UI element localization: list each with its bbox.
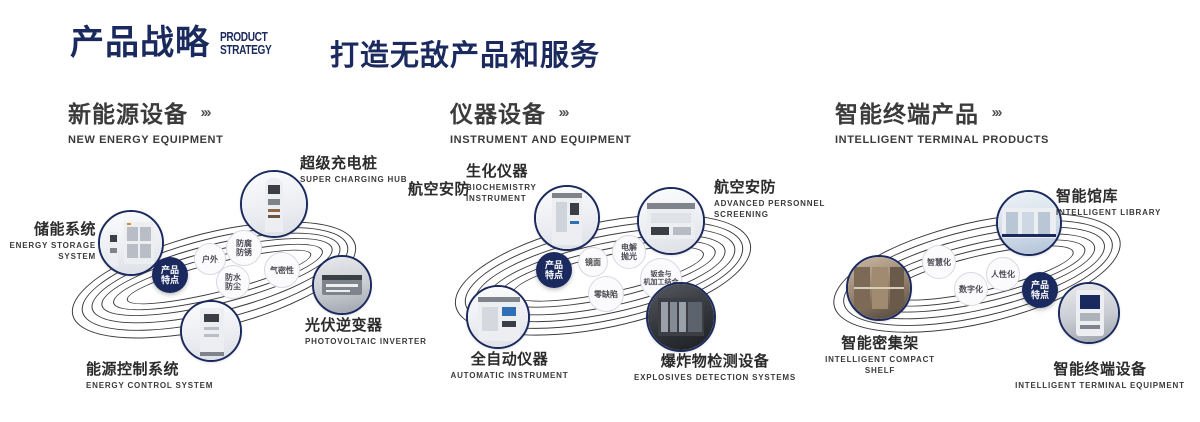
- chevron-right-icon: ›››: [558, 104, 567, 121]
- caption-intelligent-library: 智能馆库 INTELLIGENT LIBRARY: [1056, 185, 1161, 217]
- node-intelligent-library[interactable]: [996, 190, 1062, 256]
- caption-automatic-instrument: 全自动仪器 AUTOMATIC INSTRUMENT: [422, 348, 597, 380]
- core-bubble-group-2: 产品 特点: [536, 252, 572, 288]
- feature-label: 智慧化: [927, 258, 951, 267]
- product-strategy-infographic: 产品战略 PRODUCT STRATEGY 打造无敌产品和服务 新能源设备 ››…: [0, 0, 1200, 422]
- caption-en-line1: ADVANCED PERSONNEL: [714, 199, 825, 208]
- caption-en-line2: SYSTEM: [0, 252, 96, 261]
- pv-inverter-icon: [314, 257, 370, 313]
- explosives-detector-icon: [648, 284, 714, 350]
- control-cabinet-icon: [182, 302, 240, 360]
- caption-en-line2: INSTRUMENT: [466, 194, 537, 203]
- group-heading-en: INTELLIGENT TERMINAL PRODUCTS: [835, 134, 1049, 146]
- core-bubble-line2: 特点: [161, 275, 179, 285]
- charging-pile-icon: [242, 172, 306, 236]
- caption-en-line2: SCREENING: [714, 210, 825, 219]
- personnel-screening-icon: [639, 189, 703, 253]
- node-biochemistry-instrument[interactable]: [534, 185, 600, 251]
- automatic-instrument-icon: [468, 287, 528, 347]
- core-bubble-line1: 产品: [1031, 280, 1049, 290]
- group-heading-cn: 新能源设备: [68, 95, 188, 129]
- caption-energy-storage-system: 储能系统 ENERGY STORAGE SYSTEM: [0, 218, 96, 261]
- terminal-kiosk-icon: [1060, 284, 1118, 342]
- feature-label-line1: 防腐: [236, 239, 252, 248]
- caption-en-line1: ENERGY STORAGE: [0, 241, 96, 250]
- caption-en-line1: ENERGY CONTROL SYSTEM: [86, 381, 213, 390]
- caption-en-line2: SHELF: [800, 366, 960, 375]
- caption-en-line1: AUTOMATIC INSTRUMENT: [422, 371, 597, 380]
- feature-bubble-zero-defect: 零缺陷: [588, 276, 624, 312]
- intelligent-library-icon: [998, 192, 1060, 254]
- caption-cn: 爆炸物检测设备: [620, 350, 810, 371]
- caption-en-line1: BIOCHEMISTRY: [466, 183, 537, 192]
- group-heading-cn: 智能终端产品: [835, 95, 979, 129]
- node-personnel-screening[interactable]: [637, 187, 705, 255]
- biochemistry-instrument-icon: [536, 187, 598, 249]
- feature-bubble-airtightness: 气密性: [264, 252, 300, 288]
- feature-label-line1: 电解: [621, 243, 637, 252]
- core-bubble-line2: 特点: [1031, 290, 1049, 300]
- caption-en-line1: EXPLOSIVES DETECTION SYSTEMS: [620, 373, 810, 382]
- node-explosives-detector[interactable]: [646, 282, 716, 352]
- caption-photovoltaic-inverter: 光伏逆变器 PHOTOVOLTAIC INVERTER: [305, 314, 427, 346]
- caption-cn: 全自动仪器: [422, 348, 597, 369]
- caption-en-line1: INTELLIGENT COMPACT: [800, 355, 960, 364]
- node-energy-control-system[interactable]: [180, 300, 242, 362]
- caption-en-line1: PHOTOVOLTAIC INVERTER: [305, 337, 427, 346]
- feature-label-line1: 防水: [225, 273, 241, 282]
- group-heading-en: INSTRUMENT AND EQUIPMENT: [450, 134, 631, 146]
- node-energy-storage-system[interactable]: [98, 210, 164, 276]
- feature-bubble-waterproof: 防水 防尘: [216, 265, 250, 299]
- group-heading-instrument: 仪器设备 ››› INSTRUMENT AND EQUIPMENT: [450, 95, 631, 146]
- caption-en-line1: SUPER CHARGING HUB: [300, 175, 407, 184]
- caption-terminal-kiosk: 智能终端设备 INTELLIGENT TERMINAL EQUIPMENT: [1000, 358, 1200, 390]
- core-bubble-line2: 特点: [545, 270, 563, 280]
- feature-bubble-intelligent: 智慧化: [922, 245, 956, 279]
- group-heading-en: NEW ENERGY EQUIPMENT: [68, 134, 223, 146]
- feature-bubble-digitalized: 数字化: [954, 272, 988, 306]
- slogan: 打造无敌产品和服务: [330, 32, 600, 74]
- feature-label: 数字化: [959, 285, 983, 294]
- feature-label: 户外: [202, 255, 218, 264]
- feature-label-line2: 防锈: [236, 248, 252, 257]
- feature-label: 镜面: [585, 258, 601, 267]
- caption-biochemistry-instrument: 生化仪器 BIOCHEMISTRY INSTRUMENT: [466, 160, 537, 203]
- caption-cn: 航空安防: [408, 178, 470, 199]
- node-photovoltaic-inverter[interactable]: [312, 255, 372, 315]
- feature-label: 气密性: [270, 266, 294, 275]
- node-super-charging-hub[interactable]: [240, 170, 308, 238]
- core-bubble-line1: 产品: [545, 260, 563, 270]
- caption-compact-shelf: 智能密集架 INTELLIGENT COMPACT SHELF: [800, 332, 960, 375]
- caption-super-charging-hub: 超级充电桩 SUPER CHARGING HUB: [300, 152, 407, 184]
- caption-cn: 智能馆库: [1056, 185, 1161, 206]
- node-automatic-instrument[interactable]: [466, 285, 530, 349]
- caption-cn: 智能密集架: [800, 332, 960, 353]
- caption-cn: 生化仪器: [466, 160, 537, 181]
- page-title: 产品战略 PRODUCT STRATEGY: [70, 26, 286, 60]
- group-heading-intelligent-terminal: 智能终端产品 ››› INTELLIGENT TERMINAL PRODUCTS: [835, 95, 1049, 146]
- caption-cn: 超级充电桩: [300, 152, 407, 173]
- title-chinese: 产品战略: [70, 26, 210, 60]
- feature-label-line2: 抛光: [621, 252, 637, 261]
- feature-label: 人性化: [991, 270, 1015, 279]
- chevron-right-icon: ›››: [200, 104, 209, 121]
- caption-en-line1: INTELLIGENT TERMINAL EQUIPMENT: [1000, 381, 1200, 390]
- feature-bubble-humanized: 人性化: [986, 257, 1020, 291]
- compact-shelf-icon: [848, 257, 910, 319]
- caption-cn: 航空安防: [714, 176, 825, 197]
- group-heading-cn: 仪器设备: [450, 95, 546, 129]
- caption-cn: 光伏逆变器: [305, 314, 427, 335]
- core-bubble-line1: 产品: [161, 265, 179, 275]
- caption-cn: 智能终端设备: [1000, 358, 1200, 379]
- node-terminal-kiosk[interactable]: [1058, 282, 1120, 344]
- feature-label-line2: 防尘: [225, 282, 241, 291]
- chevron-right-icon: ›››: [991, 104, 1000, 121]
- title-english-line2: STRATEGY: [220, 43, 271, 56]
- core-bubble-group-3: 产品 特点: [1022, 272, 1058, 308]
- caption-personnel-screening: 航空安防 ADVANCED PERSONNEL SCREENING: [714, 176, 825, 219]
- caption-explosives-detector: 爆炸物检测设备 EXPLOSIVES DETECTION SYSTEMS: [620, 350, 810, 382]
- caption-aviation-security-left: 航空安防: [408, 178, 470, 199]
- caption-cn: 储能系统: [0, 218, 96, 239]
- caption-cn: 能源控制系统: [86, 358, 213, 379]
- caption-en-line1: INTELLIGENT LIBRARY: [1056, 208, 1161, 217]
- group-heading-new-energy: 新能源设备 ››› NEW ENERGY EQUIPMENT: [68, 95, 223, 146]
- energy-storage-cabinet-icon: [100, 212, 162, 274]
- feature-label-line1: 钣金与: [651, 271, 672, 279]
- title-english: PRODUCT STRATEGY: [220, 30, 271, 56]
- feature-label: 零缺陷: [594, 290, 618, 299]
- node-compact-shelf[interactable]: [846, 255, 912, 321]
- feature-bubble-mirror-finish: 镜面: [578, 247, 608, 277]
- caption-energy-control-system: 能源控制系统 ENERGY CONTROL SYSTEM: [86, 358, 213, 390]
